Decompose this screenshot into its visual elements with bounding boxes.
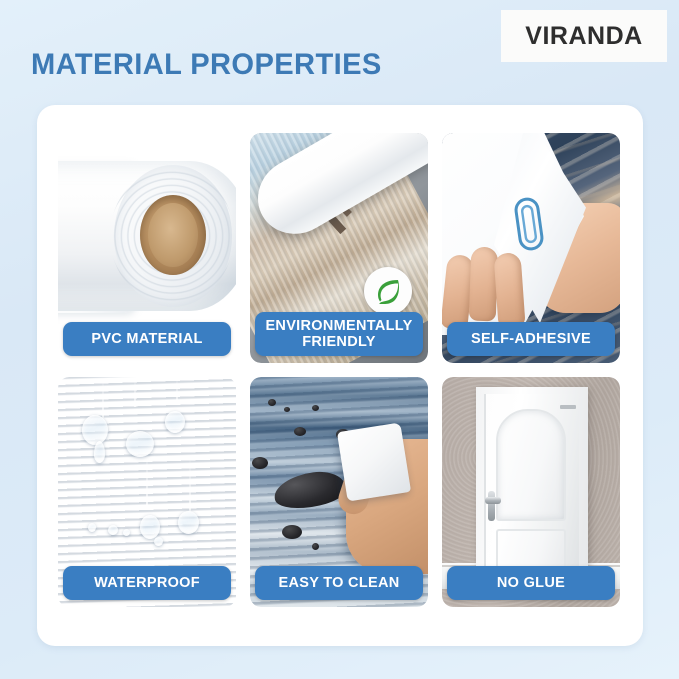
feature-tile-waterproof[interactable]: WATERPROOF [58, 377, 236, 607]
feature-label-self-adhesive: SELF-ADHESIVE [447, 322, 615, 356]
feature-label-no-glue: NO GLUE [447, 566, 615, 600]
feature-tile-self-adhesive[interactable]: SELF-ADHESIVE [442, 133, 620, 363]
feature-label-line2: FRIENDLY [302, 334, 376, 350]
left-hand [444, 239, 530, 335]
page-title: MATERIAL PROPERTIES [31, 48, 382, 82]
brand-badge: VIRANDA [501, 10, 667, 62]
feature-label-pvc-material: PVC MATERIAL [63, 322, 231, 356]
feature-label-environmentally-friendly: ENVIRONMENTALLY FRIENDLY [255, 312, 423, 356]
page-header: MATERIAL PROPERTIES VIRANDA [0, 0, 679, 105]
feature-label-waterproof: WATERPROOF [63, 566, 231, 600]
feature-tile-no-glue[interactable]: NO GLUE [442, 377, 620, 607]
feature-tile-easy-to-clean[interactable]: EASY TO CLEAN [250, 377, 428, 607]
feature-label-easy-to-clean: EASY TO CLEAN [255, 566, 423, 600]
leaf-icon [364, 267, 412, 315]
feature-tile-environmentally-friendly[interactable]: ENVIRONMENTALLY FRIENDLY [250, 133, 428, 363]
feature-tile-pvc-material[interactable]: PVC MATERIAL [58, 133, 236, 363]
features-card: PVC MATERIAL [37, 105, 643, 646]
feature-label-line1: ENVIRONMENTALLY [265, 318, 412, 334]
brand-name: VIRANDA [525, 22, 642, 51]
features-grid: PVC MATERIAL [58, 133, 622, 607]
